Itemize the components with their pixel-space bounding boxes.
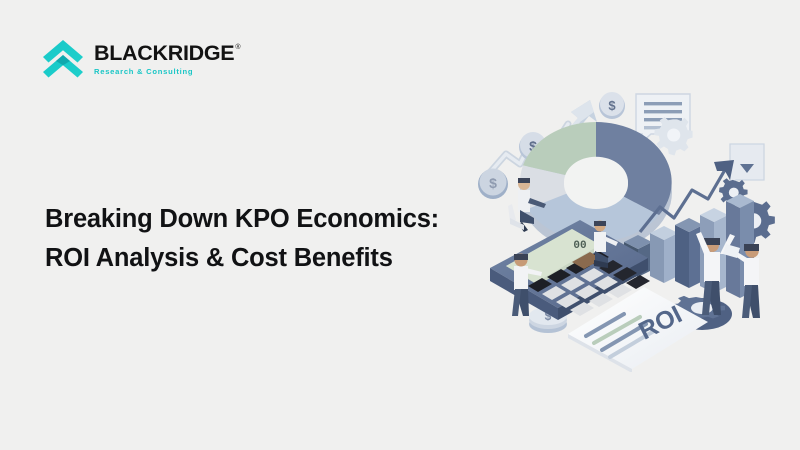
coin-icon: $ — [478, 169, 508, 200]
bar — [675, 218, 703, 288]
brand-logo[interactable]: BLACKRIDGE ® Research & Consulting — [40, 33, 241, 83]
double-chevron-up-icon — [40, 36, 86, 80]
logo-wordmark: BLACKRIDGE ® Research & Consulting — [94, 41, 241, 76]
svg-text:$: $ — [489, 175, 497, 191]
coin-icon: $ — [599, 92, 625, 119]
download-card — [730, 144, 764, 185]
logo-tagline: Research & Consulting — [94, 68, 241, 76]
page-title-line-2: ROI Analysis & Cost Benefits — [45, 239, 475, 278]
logo-brand-name: BLACKRIDGE — [94, 43, 234, 65]
svg-text:$: $ — [608, 98, 616, 113]
bar — [650, 226, 678, 283]
page-title: Breaking Down KPO Economics: ROI Analysi… — [45, 200, 475, 278]
page-title-line-1: Breaking Down KPO Economics: — [45, 205, 439, 233]
isometric-roi-analytics-illustration: $ $ $ $ — [468, 72, 798, 372]
registered-trademark-icon: ® — [235, 44, 240, 51]
calculator-display: 00 — [573, 240, 586, 252]
